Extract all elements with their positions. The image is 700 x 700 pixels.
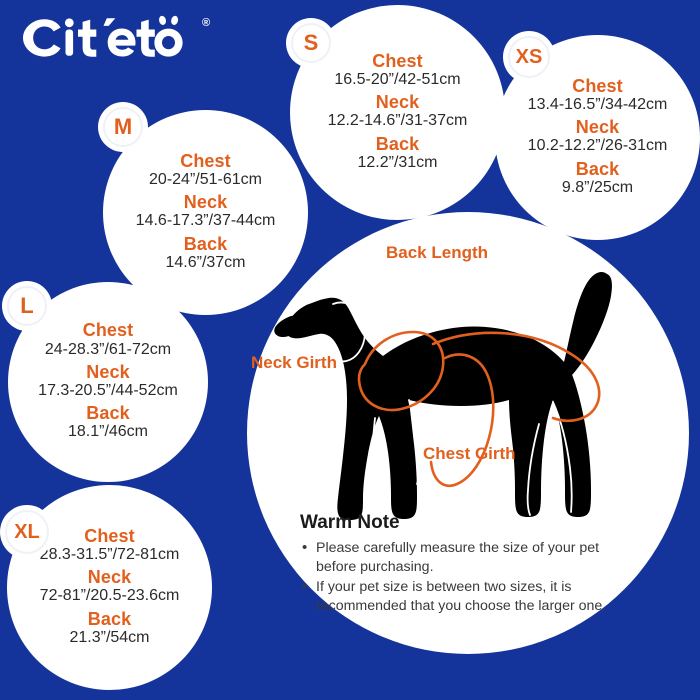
back-length-label: Back Length [386, 243, 488, 263]
size-xs-back-value: 9.8”/25cm [501, 179, 694, 197]
size-l-chest-value: 24-28.3”/61-72cm [14, 341, 202, 359]
size-badge-xs[interactable]: XS [505, 33, 553, 81]
neck-girth-label: Neck Girth [251, 353, 337, 373]
size-l-chest-label: Chest [14, 320, 202, 340]
brand-wordmark-icon [22, 14, 200, 58]
size-xl-neck-value: 72-81”/20.5-23.6cm [13, 587, 206, 605]
size-s-neck-label: Neck [296, 92, 499, 112]
size-l-neck-value: 17.3-20.5”/44-52cm [14, 382, 202, 400]
size-m-chest-label: Chest [109, 151, 302, 171]
size-xs-back-label: Back [501, 159, 694, 179]
size-m-neck-label: Neck [109, 192, 302, 212]
registered-trademark-icon: ® [202, 18, 210, 29]
brand-logo: ® [22, 14, 210, 58]
size-s-back-value: 12.2”/31cm [296, 154, 499, 172]
warm-note-section: Warm Note Please carefully measure the s… [300, 512, 610, 617]
dog-silhouette-icon [274, 272, 612, 520]
size-xl-back-value: 21.3”/54cm [13, 629, 206, 647]
size-s-chest-value: 16.5-20”/42-51cm [296, 71, 499, 89]
size-s-back-label: Back [296, 134, 499, 154]
warm-note-list: Please carefully measure the size of you… [300, 539, 610, 616]
size-badge-m[interactable]: M [100, 104, 146, 150]
size-m-back-value: 14.6”/37cm [109, 254, 302, 272]
size-l-neck-label: Neck [14, 362, 202, 382]
size-m-back-label: Back [109, 234, 302, 254]
chest-girth-label: Chest Girth [423, 444, 516, 464]
size-xs-chest-value: 13.4-16.5”/34-42cm [501, 96, 694, 114]
size-xl-neck-label: Neck [13, 567, 206, 587]
size-badge-s[interactable]: S [288, 20, 334, 66]
size-s-neck-value: 12.2-14.6”/31-37cm [296, 112, 499, 130]
size-m-neck-value: 14.6-17.3”/37-44cm [109, 212, 302, 230]
warm-note-bullet-1: Please carefully measure the size of you… [300, 539, 610, 577]
size-l-back-value: 18.1”/46cm [14, 423, 202, 441]
size-xl-back-label: Back [13, 609, 206, 629]
size-xs-neck-label: Neck [501, 117, 694, 137]
size-badge-l[interactable]: L [4, 283, 50, 329]
size-m-chest-value: 20-24”/51-61cm [109, 171, 302, 189]
warm-note-title: Warm Note [300, 512, 610, 534]
size-l-back-label: Back [14, 403, 202, 423]
warm-note-bullet-2: If your pet size is between two sizes, i… [300, 578, 610, 616]
size-xs-neck-value: 10.2-12.2”/26-31cm [501, 137, 694, 155]
size-badge-xl[interactable]: XL [2, 507, 52, 557]
